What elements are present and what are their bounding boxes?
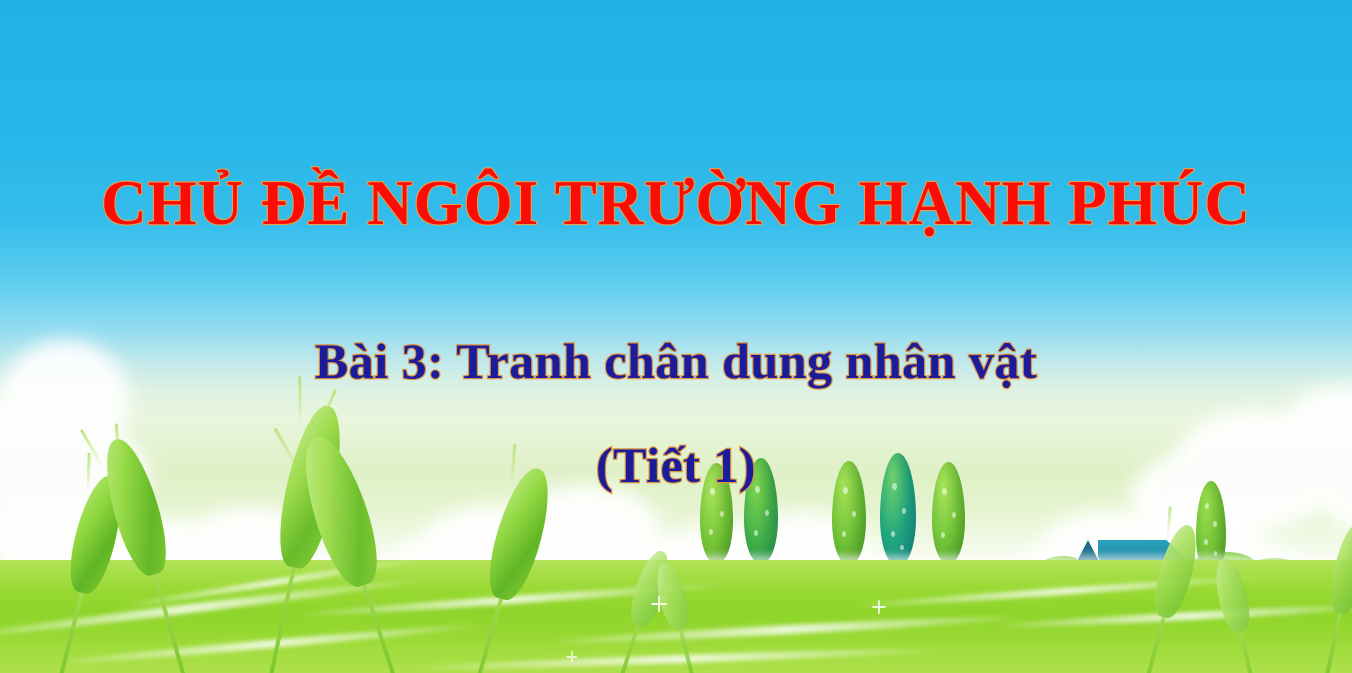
page-title: CHỦ ĐỀ NGÔI TRƯỜNG HẠNH PHÚC (0, 172, 1352, 235)
slide-text-layer: CHỦ ĐỀ NGÔI TRƯỜNG HẠNH PHÚC Bài 3: Tran… (0, 0, 1352, 673)
lesson-period: (Tiết 1) (0, 440, 1352, 490)
lesson-subtitle: Bài 3: Tranh chân dung nhân vật (0, 336, 1352, 386)
presentation-slide: CHỦ ĐỀ NGÔI TRƯỜNG HẠNH PHÚC Bài 3: Tran… (0, 0, 1352, 673)
